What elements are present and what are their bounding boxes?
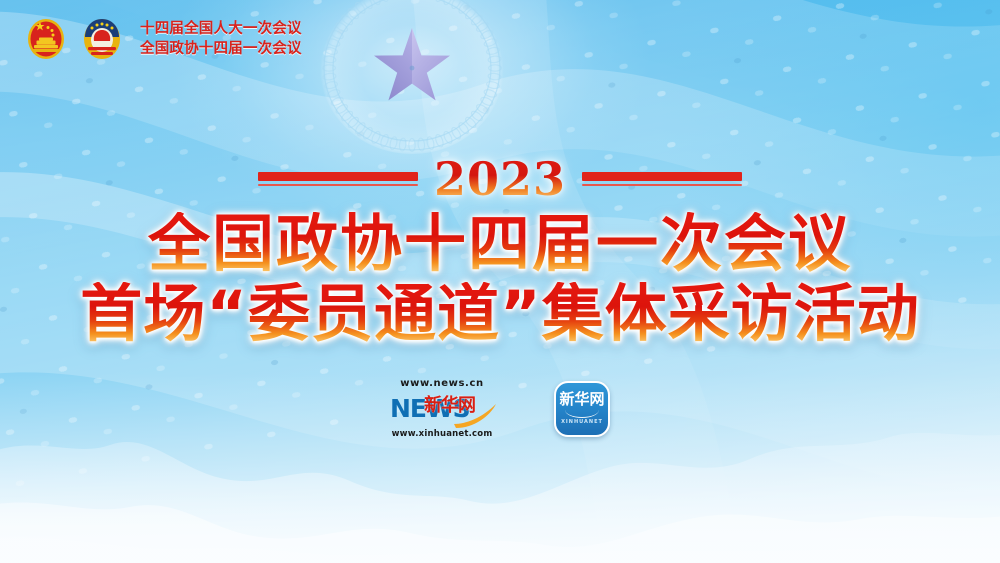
hero-title-line-1: 全国政协十四届一次会议 bbox=[0, 212, 1000, 276]
header-emblem-block: 十四届全国人大一次会议 全国政协十四届一次会议 bbox=[22, 14, 302, 64]
xinhua-logo-url-top: www.news.cn bbox=[390, 378, 494, 389]
app-icon-underline bbox=[565, 410, 599, 418]
header-line-npc: 十四届全国人大一次会议 bbox=[140, 21, 302, 38]
xinhua-logo-mark: NEWS 新华网 bbox=[390, 390, 494, 428]
header-line-cppcc: 全国政协十四届一次会议 bbox=[140, 41, 302, 58]
rule-left bbox=[258, 172, 418, 186]
xinhua-logo-url-bottom: www.xinhuanet.com bbox=[390, 429, 494, 439]
header-text-block: 十四届全国人大一次会议 全国政协十四届一次会议 bbox=[140, 21, 302, 57]
rule-left-thin bbox=[258, 184, 418, 186]
rule-right-thin bbox=[582, 184, 742, 186]
cppcc-emblem bbox=[78, 14, 126, 64]
star-wreath-graphic bbox=[288, 0, 536, 160]
rule-right bbox=[582, 172, 742, 186]
app-icon-chinese: 新华网 bbox=[559, 392, 604, 407]
year-row: 2023 bbox=[0, 150, 1000, 208]
hero-title-block: 2023 全国政协十四届一次会议 首场“委员通道”集体采访活动 bbox=[0, 150, 1000, 347]
poster-canvas: 十四届全国人大一次会议 全国政协十四届一次会议 2023 全国政协十四届一次会议… bbox=[0, 0, 1000, 563]
logo-row: www.news.cn NEWS 新华网 www.xinhuanet.com 新… bbox=[0, 378, 1000, 439]
app-icon-english: XINHUANET bbox=[561, 419, 603, 425]
xinhua-news-logo[interactable]: www.news.cn NEWS 新华网 www.xinhuanet.com bbox=[390, 378, 494, 439]
national-emblem bbox=[22, 14, 70, 64]
swoosh-icon bbox=[452, 402, 498, 428]
xinhuanet-app-icon[interactable]: 新华网 XINHUANET bbox=[554, 381, 610, 437]
hero-title-line-2: 首场“委员通道”集体采访活动 bbox=[0, 282, 1000, 346]
rule-right-thick bbox=[582, 172, 742, 181]
hero-year: 2023 bbox=[432, 156, 568, 202]
rule-left-thick bbox=[258, 172, 418, 181]
